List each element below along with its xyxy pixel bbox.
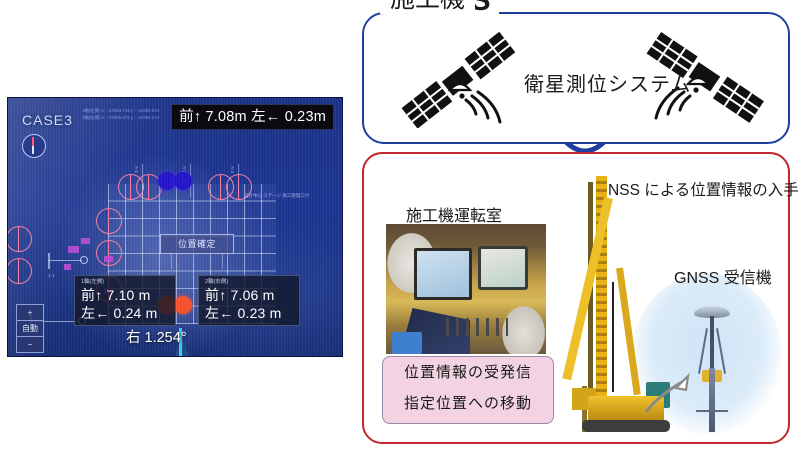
- cab-monitor-secondary: [478, 246, 528, 290]
- note-line-2: 指定位置への移動: [383, 388, 553, 419]
- gnss-receiver-caption: GNSS 受信機: [674, 264, 772, 288]
- rig-hose: [612, 282, 614, 392]
- design-pile-ring: [96, 208, 122, 234]
- control-levers: [446, 318, 508, 336]
- axis1-forward: 前↑ 7.10 m: [81, 286, 169, 304]
- axis1-readout: 1軸(左側) 前↑ 7.10 m 左← 0.24 m: [74, 275, 176, 326]
- cab-equipment: [392, 332, 422, 354]
- machine-guidance-monitor: A-1 A-2 A-3 1-1 設計中心 ステージ: [8, 98, 342, 356]
- gnss-panel: 衛星測位システム: [362, 12, 790, 144]
- auto-mode-button[interactable]: 自動: [16, 320, 44, 337]
- receiver-brace-right: [716, 328, 726, 374]
- operator-cab-caption: 施工機運転室: [406, 202, 502, 226]
- screenshot-root: A-1 A-2 A-3 1-1 設計中心 ステージ: [0, 0, 800, 449]
- case-label: CASE3: [22, 112, 73, 128]
- rotation-angle-readout: 右 1.254°: [126, 326, 187, 347]
- gnss-system-diagram: 衛星測位システム GNSS GNSS による位置情報の入手 施工機運転室 GNS…: [348, 0, 800, 449]
- cab-monitor-primary: [414, 248, 472, 300]
- axis1-left: 左← 0.24 m: [81, 304, 169, 322]
- compass-icon: [22, 134, 46, 158]
- zoom-in-button[interactable]: +: [16, 304, 44, 321]
- axis1-title: 1軸(左側): [81, 278, 169, 286]
- magenta-tag: [81, 238, 90, 244]
- axis2-forward: 前↑ 7.06 m: [205, 286, 293, 304]
- receiver-upper-pole: [710, 316, 714, 374]
- magenta-tag: [64, 264, 71, 270]
- axis2-left: 左← 0.23 m: [205, 304, 293, 322]
- design-pile-ring: [96, 240, 122, 266]
- grid-note: 設計中心 ステージ 施工管理ログ: [244, 193, 309, 199]
- magenta-tag: [68, 246, 79, 253]
- zoom-out-button[interactable]: −: [16, 336, 44, 353]
- station-label: A-3: [230, 166, 235, 173]
- receiver-crossbar: [696, 410, 728, 412]
- position-note-box: 位置情報の受発信 指定位置への移動: [382, 356, 554, 424]
- gnss-receiver-photo: [694, 306, 730, 432]
- axis2-readout: 2軸(右側) 前↑ 7.06 m 左← 0.23 m: [198, 275, 300, 326]
- receiver-lower-mast: [709, 368, 715, 432]
- current-position-marker: [174, 296, 192, 314]
- satellite-left-icon: [392, 32, 522, 128]
- rig-crawler-track: [582, 420, 670, 432]
- axis2-title: 2軸(右側): [205, 278, 293, 286]
- note-line-1: 位置情報の受発信: [383, 357, 553, 388]
- magenta-tag: [104, 256, 113, 262]
- grid-note: 1-1: [48, 273, 55, 278]
- position-fix-button[interactable]: 位置確定: [160, 234, 234, 254]
- survey-node: [80, 256, 88, 264]
- link-arrow-icon: [642, 370, 694, 416]
- offset-summary-bar: 前↑ 7.08m 左← 0.23m: [171, 104, 334, 130]
- operator-cab-photo: [386, 224, 546, 354]
- target-position-marker: [174, 172, 192, 190]
- construction-machine-panel: GNSS による位置情報の入手 施工機運転室 GNSS 受信機: [362, 152, 790, 444]
- machine-panel-title: 施工機: [380, 0, 475, 14]
- rig-brace: [616, 268, 641, 396]
- satellite-system-caption: 衛星測位システム: [524, 68, 691, 97]
- station-label: A-1: [134, 166, 139, 173]
- receiver-brace-left: [698, 328, 708, 374]
- survey-stick: [48, 260, 82, 261]
